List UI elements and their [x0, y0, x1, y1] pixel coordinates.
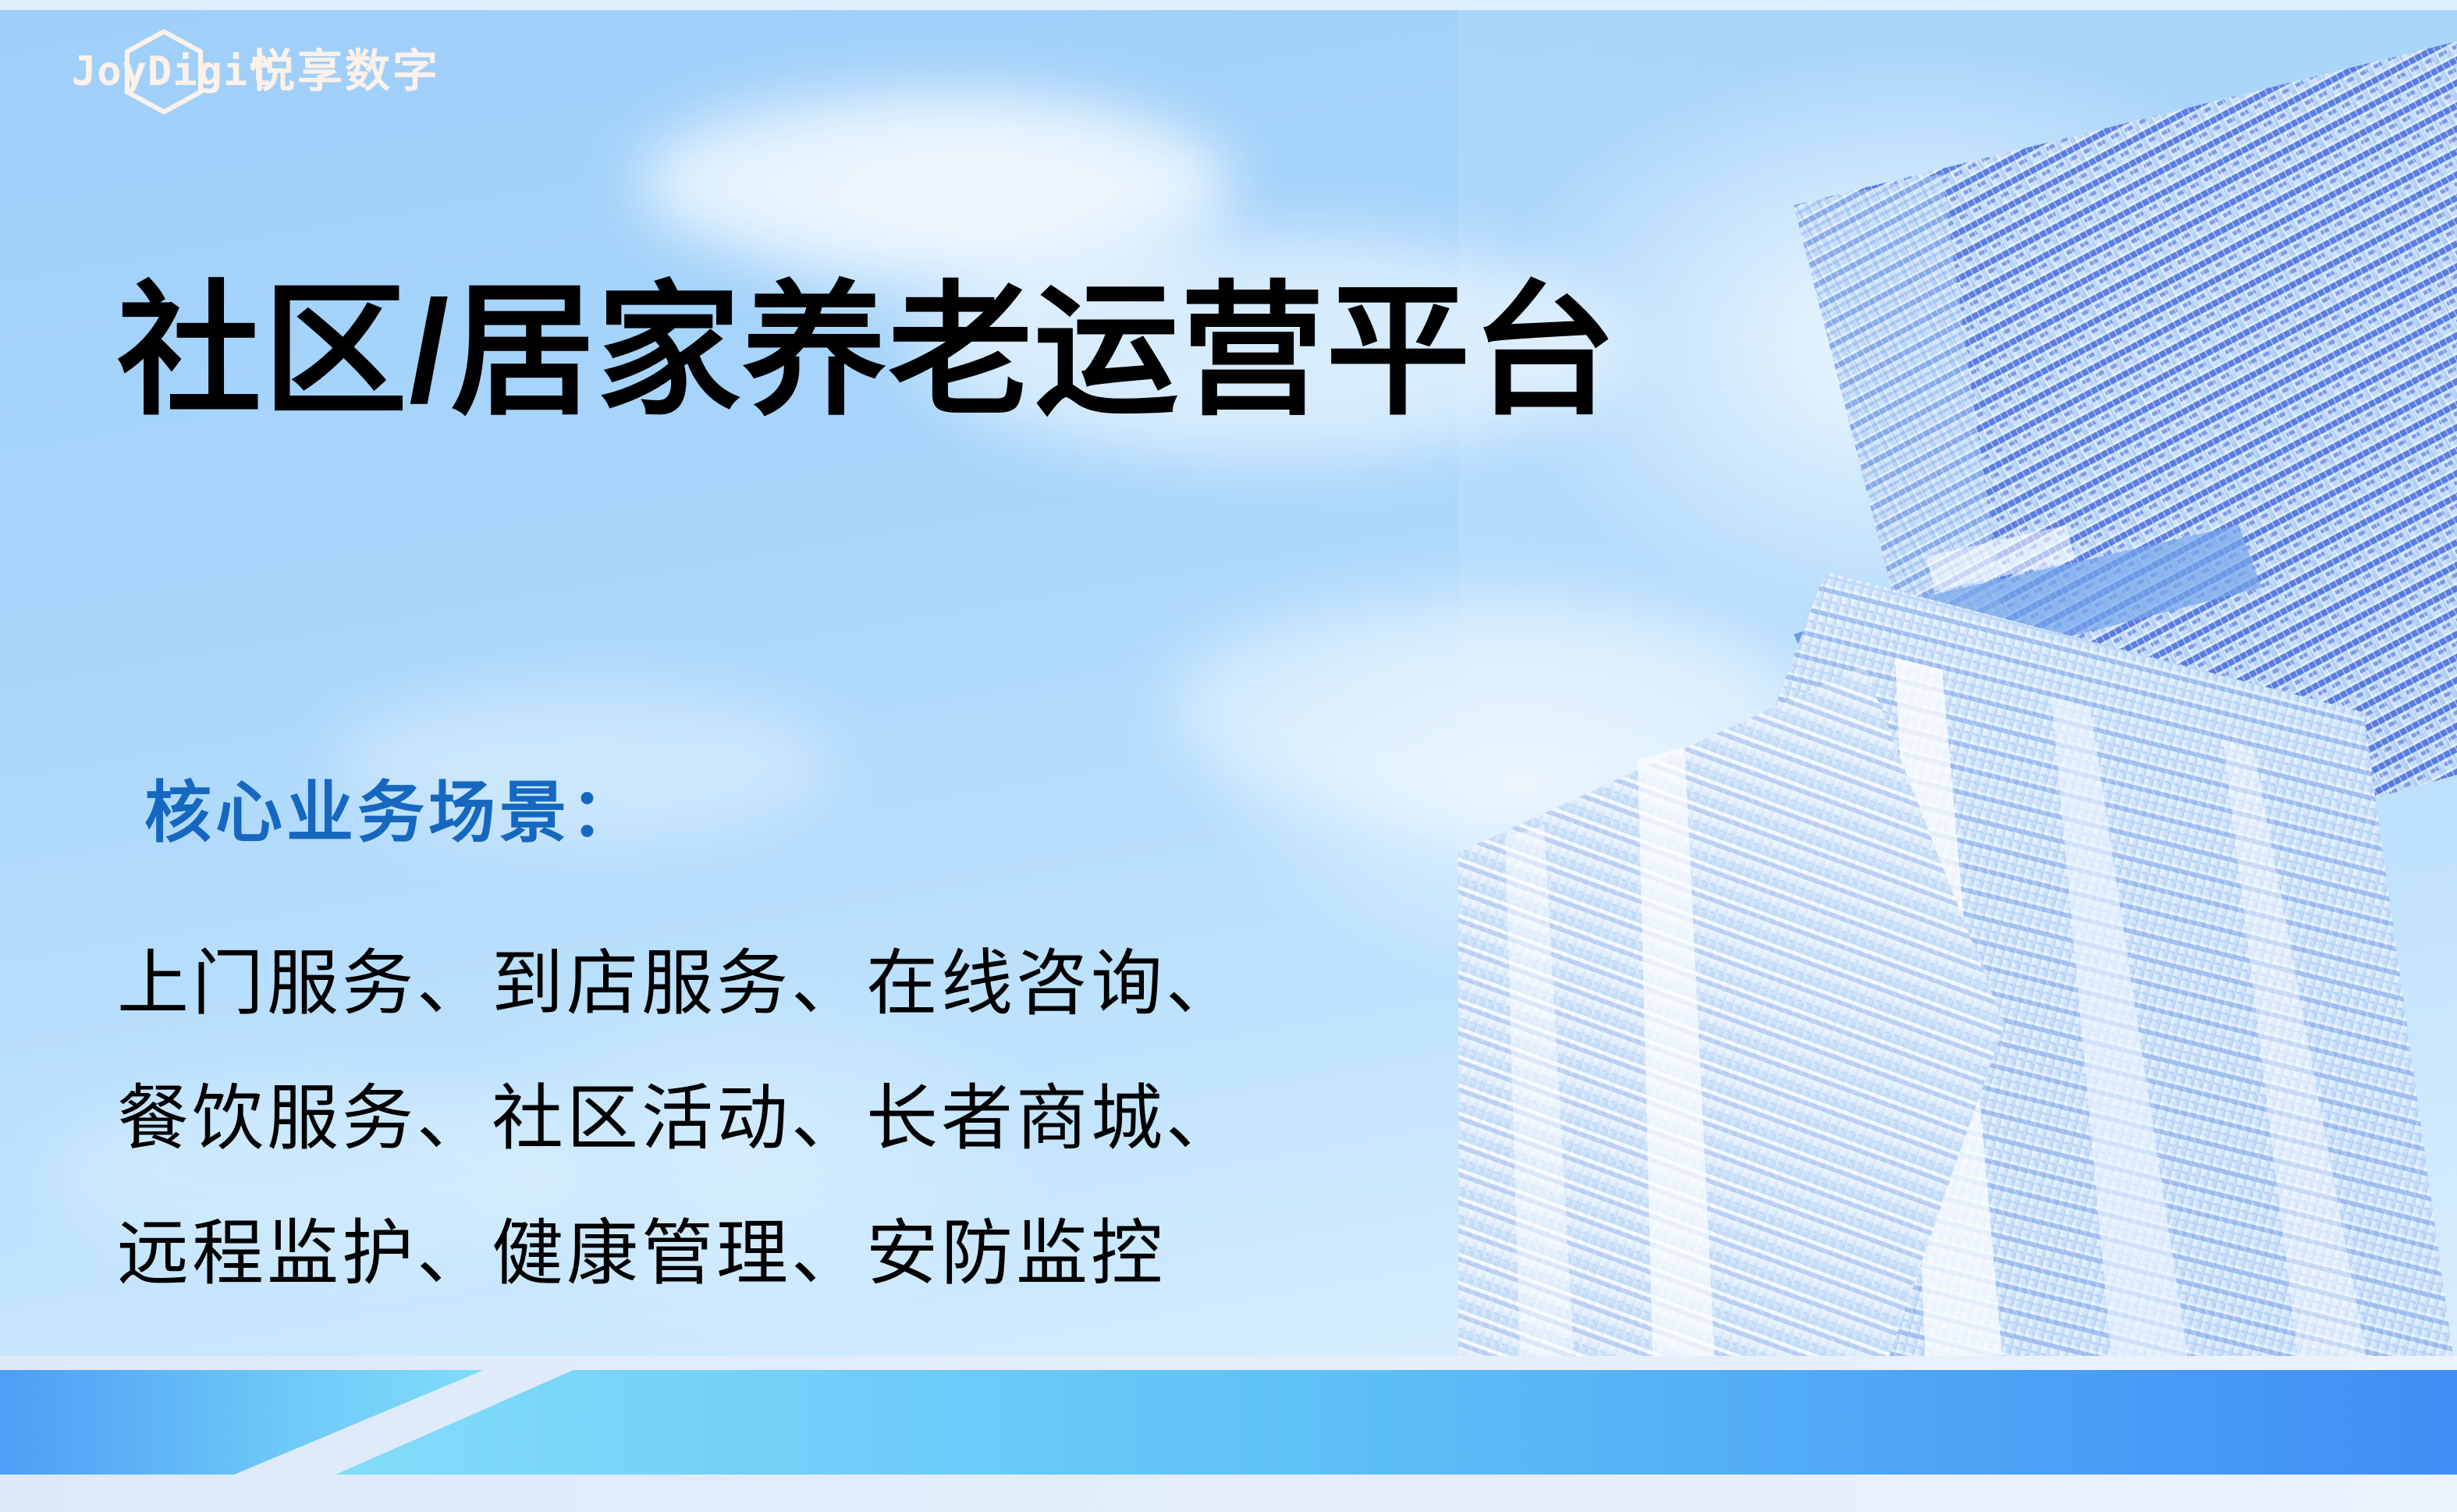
top-accent-strip	[0, 0, 2457, 10]
brand-logo: JoyDigit 悦享数字	[72, 30, 440, 114]
page-title: 社区/居家养老运营平台	[117, 275, 1617, 431]
slide-root: JoyDigit 悦享数字 社区/居家养老运营平台 核心业务场景： 上门服务、到…	[0, 0, 2457, 1512]
logo-chinese-name: 悦享数字	[250, 49, 440, 94]
bottom-decorative-band	[0, 1356, 2457, 1512]
logo-mark: JoyDigit	[72, 31, 236, 112]
skyscrapers-image	[1458, 10, 2457, 1383]
logo-wordmark: JoyDigit	[72, 51, 273, 92]
scenario-line: 远程监护、健康管理、安防监控	[117, 1187, 1241, 1322]
scenario-line: 上门服务、到店服务、在线咨询、	[117, 917, 1241, 1052]
scenario-line: 餐饮服务、社区活动、长者商城、	[117, 1052, 1241, 1187]
scenario-list: 上门服务、到店服务、在线咨询、 餐饮服务、社区活动、长者商城、 远程监护、健康管…	[117, 917, 1241, 1322]
section-label: 核心业务场景：	[144, 776, 641, 850]
